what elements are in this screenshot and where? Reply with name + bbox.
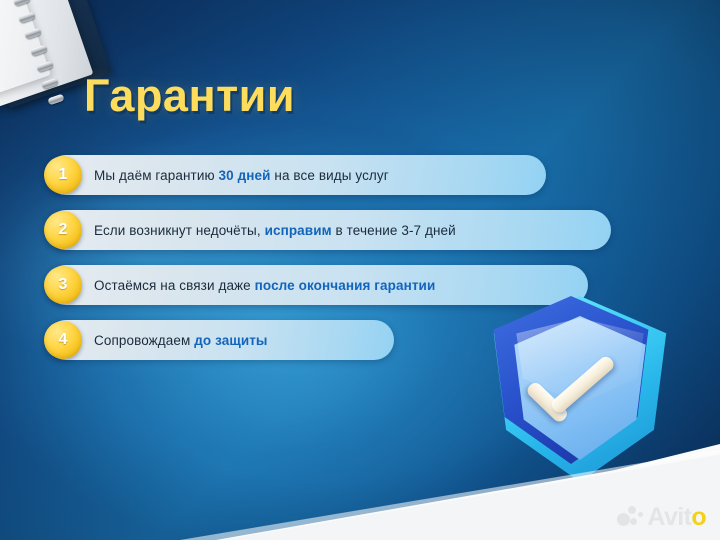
guarantee-number-badge: 1 xyxy=(44,156,82,194)
guarantee-text: Мы даём гарантию 30 дней на все виды усл… xyxy=(94,168,389,183)
guarantee-row: 1Мы даём гарантию 30 дней на все виды ус… xyxy=(46,155,686,195)
shield-check-icon xyxy=(492,296,668,482)
guarantee-text-suffix: в течение 3-7 дней xyxy=(332,223,456,238)
avito-wordmark-main: Avit xyxy=(647,503,691,531)
guarantee-text-prefix: Остаёмся на связи даже xyxy=(94,278,255,293)
guarantee-text-prefix: Если возникнут недочёты, xyxy=(94,223,265,238)
guarantee-text-highlight: 30 дней xyxy=(219,168,271,183)
notebook-spiral-ring xyxy=(47,94,64,106)
guarantee-text: Сопровождаем до защиты xyxy=(94,333,268,348)
checkmark-long-stroke xyxy=(549,354,616,415)
guarantee-number-badge: 4 xyxy=(44,321,82,359)
guarantee-number-badge: 2 xyxy=(44,211,82,249)
avito-wordmark: Avito xyxy=(647,505,706,530)
avito-dot-large xyxy=(617,513,630,526)
guarantee-pill: 4Сопровождаем до защиты xyxy=(46,320,394,360)
guarantee-text: Если возникнут недочёты, исправим в тече… xyxy=(94,223,456,238)
avito-watermark: Avito xyxy=(617,502,706,532)
guarantee-text: Остаёмся на связи даже после окончания г… xyxy=(94,278,435,293)
guarantee-text-highlight: до защиты xyxy=(194,333,267,348)
guarantee-text-suffix: на все виды услуг xyxy=(271,168,389,183)
guarantee-row: 2Если возникнут недочёты, исправим в теч… xyxy=(46,210,686,250)
avito-wordmark-accent: o xyxy=(691,503,706,531)
guarantee-text-prefix: Мы даём гарантию xyxy=(94,168,219,183)
page-title: Гарантии xyxy=(84,70,295,122)
avito-dot-medium xyxy=(628,506,636,514)
slide-canvas: Гарантии 1Мы даём гарантию 30 дней на вс… xyxy=(0,0,720,540)
guarantee-text-highlight: исправим xyxy=(265,223,332,238)
avito-dot-small xyxy=(630,518,637,525)
guarantee-text-highlight: после окончания гарантии xyxy=(255,278,436,293)
guarantee-pill: 2Если возникнут недочёты, исправим в теч… xyxy=(46,210,611,250)
avito-dots-icon xyxy=(617,505,644,529)
guarantee-number-badge: 3 xyxy=(44,266,82,304)
checkmark-icon xyxy=(530,352,628,414)
guarantee-text-prefix: Сопровождаем xyxy=(94,333,194,348)
avito-dot-tiny xyxy=(638,512,643,517)
guarantee-pill: 1Мы даём гарантию 30 дней на все виды ус… xyxy=(46,155,546,195)
